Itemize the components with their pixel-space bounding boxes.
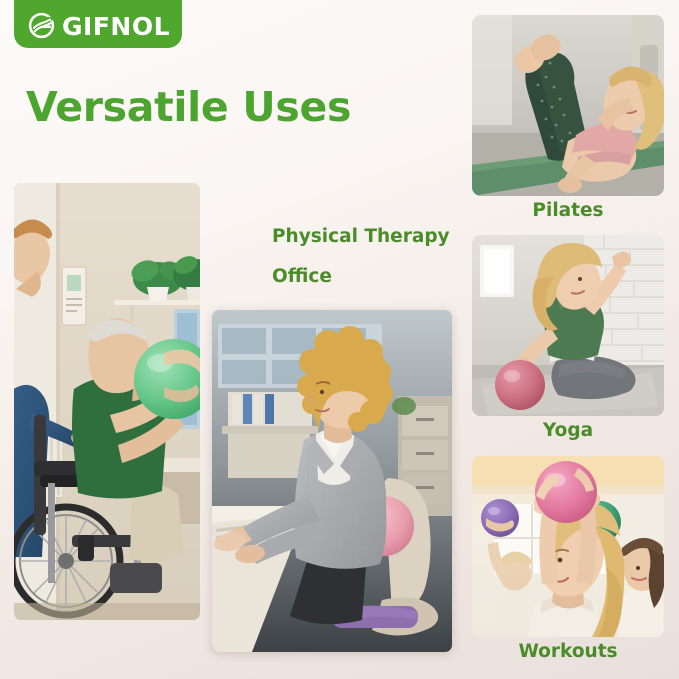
photo-office: [212, 310, 452, 652]
workouts-illustration: [472, 456, 664, 637]
photo-workouts: [472, 456, 664, 637]
label-office: Office: [272, 266, 332, 287]
pilates-illustration: [472, 15, 664, 196]
infographic-canvas: GIFNOL Versatile Uses: [0, 0, 679, 679]
photo-physical-therapy: [14, 183, 200, 620]
brand-logo-text: GIFNOL: [62, 14, 170, 39]
label-workouts: Workouts: [472, 641, 664, 662]
page-title: Versatile Uses: [26, 84, 351, 130]
pink-exercise-ball: [495, 360, 545, 410]
label-physical-therapy: Physical Therapy: [272, 226, 450, 247]
yoga-illustration: [472, 235, 664, 416]
office-illustration: [212, 310, 452, 652]
physical-therapy-illustration: [14, 183, 200, 620]
label-yoga: Yoga: [472, 420, 664, 441]
brand-logo-badge: GIFNOL: [14, 0, 182, 48]
label-pilates: Pilates: [472, 200, 664, 221]
wave-circle-icon: [28, 12, 55, 39]
photo-pilates: [472, 15, 664, 196]
photo-yoga: [472, 235, 664, 416]
